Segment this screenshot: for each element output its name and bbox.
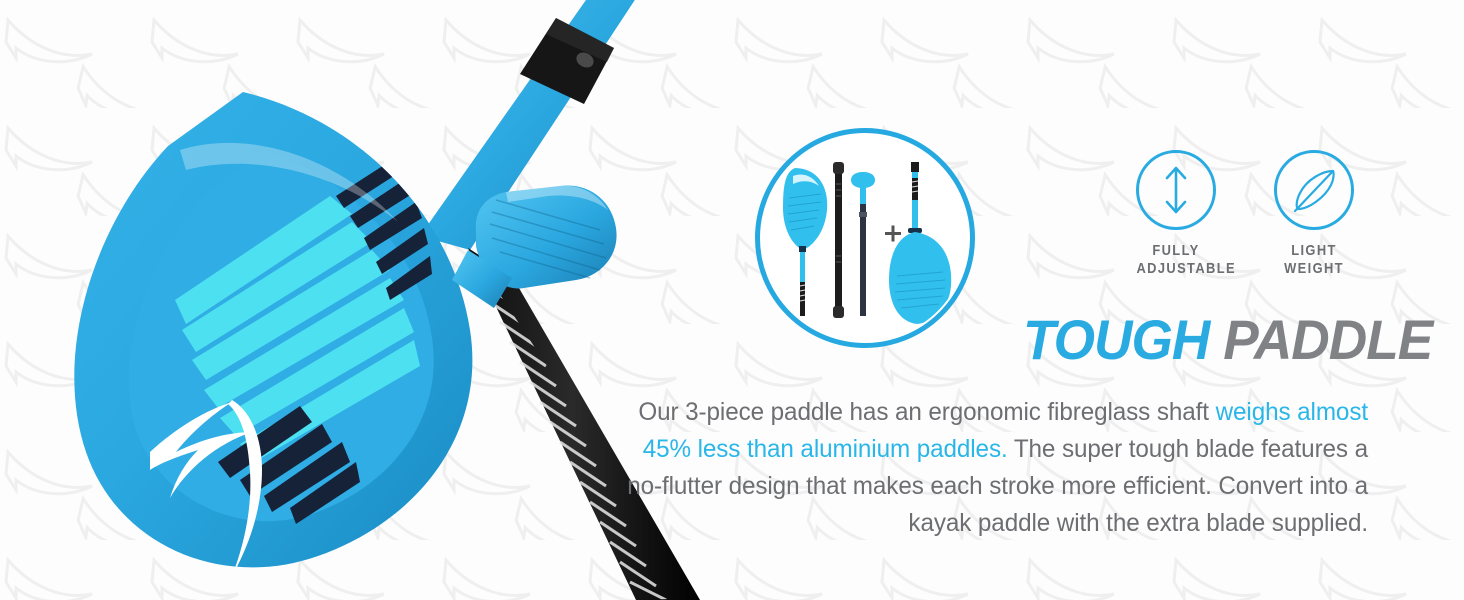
page-title: TOUGH PADDLE [1023, 312, 1384, 368]
headline-word-tough: TOUGH [1023, 308, 1209, 371]
body-line-1: Our 3-piece paddle has an ergonomic fibr… [638, 398, 1209, 426]
up-down-arrow-icon [1139, 153, 1213, 227]
product-description: Our 3-piece paddle has an ergonomic fibr… [623, 394, 1368, 542]
body-line-2-rest: The super tough [1008, 435, 1189, 463]
product-feature-banner: FULLY ADJUSTABLE LIGHT WEIGHT TOUGH PADD… [0, 0, 1464, 600]
extra-kayak-blade [889, 162, 951, 324]
t-grip-handle [452, 185, 617, 308]
paddle-shaft-upper [420, 0, 648, 250]
shaft-section-lower [851, 172, 875, 316]
badge-fully-adjustable: FULLY ADJUSTABLE [1130, 150, 1222, 278]
shaft-collar [520, 18, 614, 104]
badge-ring-lightweight [1274, 150, 1354, 230]
three-piece-paddle-inset [755, 128, 975, 348]
badge-label-lightweight: LIGHT WEIGHT [1274, 242, 1353, 278]
paddle-blade [74, 92, 472, 576]
badge-label-adjustable: FULLY ADJUSTABLE [1136, 242, 1215, 278]
assembled-paddle [783, 168, 827, 316]
badge-ring-adjustable [1136, 150, 1216, 230]
plus-symbol [885, 226, 901, 242]
badge-light-weight: LIGHT WEIGHT [1268, 150, 1360, 278]
headline-word-paddle: PADDLE [1223, 308, 1432, 371]
feature-badges: FULLY ADJUSTABLE LIGHT WEIGHT [1130, 150, 1360, 278]
shaft-section-upper [833, 162, 844, 318]
feather-icon [1277, 153, 1351, 227]
